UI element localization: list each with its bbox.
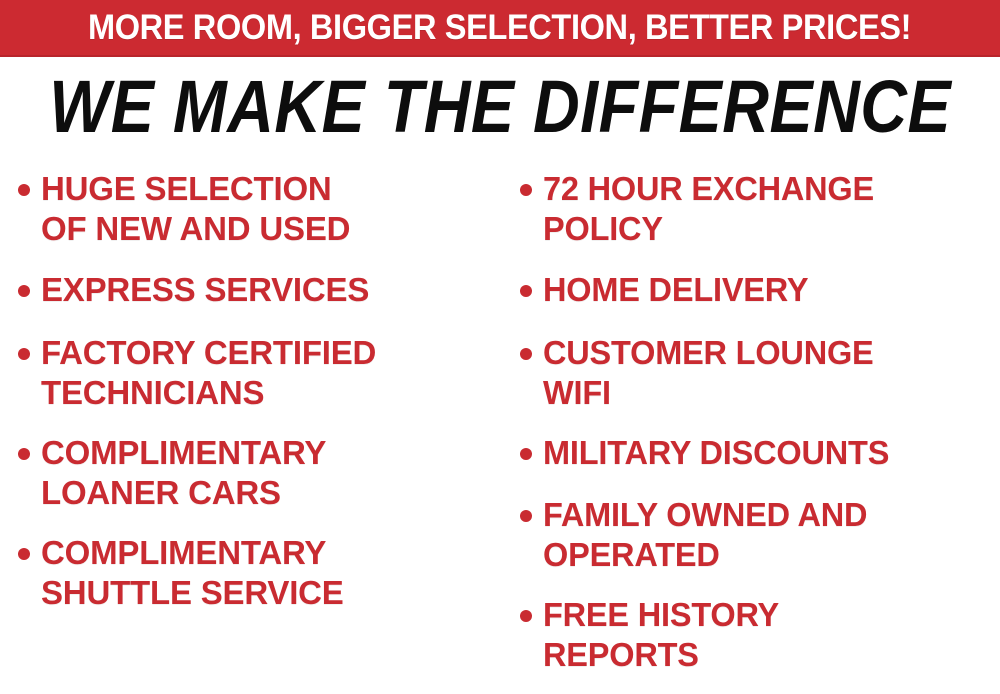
list-item-label: FREE HISTORY REPORTS bbox=[543, 595, 779, 675]
list-item: FACTORY CERTIFIED TECHNICIANS bbox=[18, 333, 376, 413]
bullet-dot-icon bbox=[18, 285, 30, 297]
list-item-label: COMPLIMENTARY LOANER CARS bbox=[41, 433, 326, 513]
bullet-dot-icon bbox=[18, 348, 30, 360]
headline-container: WE MAKE THE DIFFERENCE bbox=[0, 62, 1000, 150]
promo-banner-page: MORE ROOM, BIGGER SELECTION, BETTER PRIC… bbox=[0, 0, 1000, 694]
bullet-dot-icon bbox=[520, 184, 532, 196]
list-item-label: HUGE SELECTION OF NEW AND USED bbox=[41, 169, 350, 249]
list-item: HUGE SELECTION OF NEW AND USED bbox=[18, 169, 350, 249]
benefits-column-left: HUGE SELECTION OF NEW AND USED EXPRESS S… bbox=[8, 155, 500, 694]
list-item: HOME DELIVERY bbox=[520, 270, 812, 310]
bullet-dot-icon bbox=[520, 610, 532, 622]
list-item-label: FACTORY CERTIFIED TECHNICIANS bbox=[41, 333, 376, 413]
list-item-label: CUSTOMER LOUNGE WIFI bbox=[543, 333, 874, 413]
list-item: FREE HISTORY REPORTS bbox=[520, 595, 783, 675]
list-item-label: MILITARY DISCOUNTS bbox=[543, 433, 889, 473]
bullet-dot-icon bbox=[520, 285, 532, 297]
banner-headline-text: MORE ROOM, BIGGER SELECTION, BETTER PRIC… bbox=[88, 10, 911, 45]
list-item-label: EXPRESS SERVICES bbox=[41, 270, 369, 310]
list-item: EXPRESS SERVICES bbox=[18, 270, 369, 310]
list-item: COMPLIMENTARY SHUTTLE SERVICE bbox=[18, 533, 344, 613]
benefits-column-right: 72 HOUR EXCHANGE POLICY HOME DELIVERY CU… bbox=[508, 155, 1000, 694]
list-item-label: 72 HOUR EXCHANGE POLICY bbox=[543, 169, 874, 249]
bullet-dot-icon bbox=[520, 510, 532, 522]
list-item: CUSTOMER LOUNGE WIFI bbox=[520, 333, 879, 413]
bullet-dot-icon bbox=[18, 548, 30, 560]
list-item-label: COMPLIMENTARY SHUTTLE SERVICE bbox=[41, 533, 344, 613]
list-item: MILITARY DISCOUNTS bbox=[520, 433, 894, 473]
bullet-dot-icon bbox=[18, 184, 30, 196]
list-item: COMPLIMENTARY LOANER CARS bbox=[18, 433, 326, 513]
page-title: WE MAKE THE DIFFERENCE bbox=[49, 69, 951, 143]
benefits-columns: HUGE SELECTION OF NEW AND USED EXPRESS S… bbox=[0, 155, 1000, 694]
list-item-label: FAMILY OWNED AND OPERATED bbox=[543, 495, 867, 575]
bullet-dot-icon bbox=[18, 448, 30, 460]
list-item-label: HOME DELIVERY bbox=[543, 270, 808, 310]
top-red-banner: MORE ROOM, BIGGER SELECTION, BETTER PRIC… bbox=[0, 0, 1000, 57]
list-item: 72 HOUR EXCHANGE POLICY bbox=[520, 169, 879, 249]
bullet-dot-icon bbox=[520, 348, 532, 360]
bullet-dot-icon bbox=[520, 448, 532, 460]
list-item: FAMILY OWNED AND OPERATED bbox=[520, 495, 872, 575]
